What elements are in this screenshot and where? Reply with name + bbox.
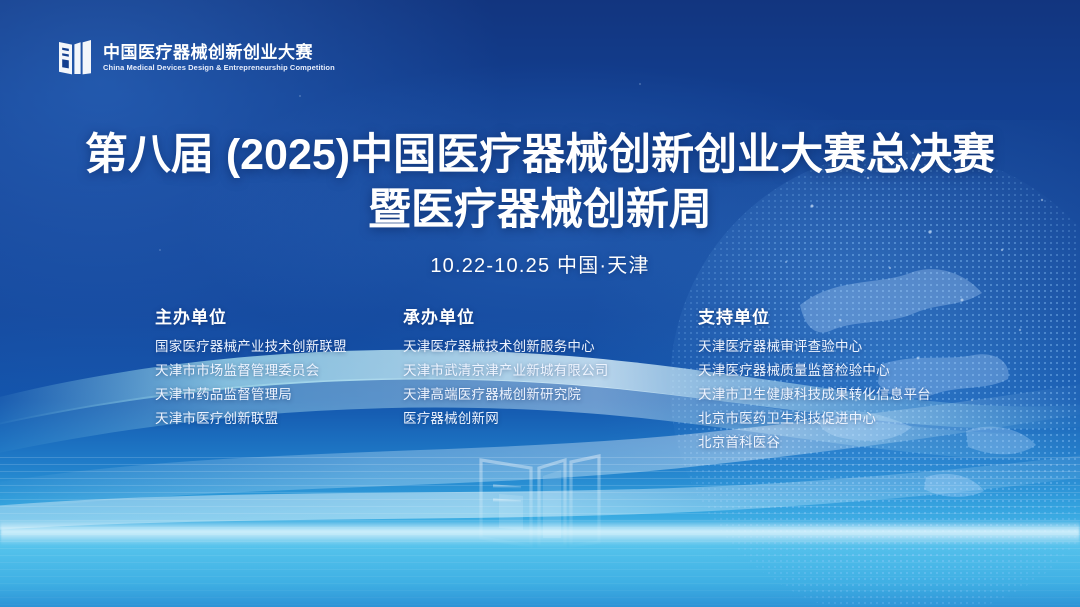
title-line-1: 第八届 (2025)中国医疗器械创新创业大赛总决赛 (0, 128, 1080, 183)
brand-text-block: 中国医疗器械创新创业大赛 China Medical Devices Desig… (103, 44, 335, 72)
organization-item: 天津医疗器械技术创新服务中心 (403, 335, 609, 359)
organization-item: 北京首科医谷 (698, 431, 931, 455)
organization-item: 天津市医疗创新联盟 (155, 407, 347, 431)
organization-item: 天津医疗器械质量监督检验中心 (698, 359, 931, 383)
organization-column-co-hosts: 承办单位 天津医疗器械技术创新服务中心 天津市武清京津产业新城有限公司 天津高端… (403, 303, 609, 431)
organization-item: 天津市市场监督管理委员会 (155, 359, 347, 383)
organization-heading: 支持单位 (698, 303, 931, 328)
organization-item: 医疗器械创新网 (403, 407, 609, 431)
brand-name-en: China Medical Devices Design & Entrepren… (103, 64, 335, 72)
poster-canvas: 中国医疗器械创新创业大赛 China Medical Devices Desig… (0, 0, 1080, 607)
organization-heading: 承办单位 (403, 303, 609, 328)
brand-name-cn: 中国医疗器械创新创业大赛 (103, 44, 335, 62)
organization-item: 天津市武清京津产业新城有限公司 (403, 359, 609, 383)
event-date-location: 10.22-10.25 中国·天津 (0, 249, 1080, 278)
organization-item: 天津医疗器械审评查验中心 (698, 335, 931, 359)
organization-item: 北京市医药卫生科技促进中心 (698, 407, 931, 431)
organization-columns: 主办单位 国家医疗器械产业技术创新联盟 天津市市场监督管理委员会 天津市药品监督… (0, 303, 1080, 453)
organization-item: 国家医疗器械产业技术创新联盟 (155, 335, 347, 359)
organization-item: 天津市卫生健康科技成果转化信息平台 (698, 383, 931, 407)
organization-column-supporters: 支持单位 天津医疗器械审评查验中心 天津医疗器械质量监督检验中心 天津市卫生健康… (698, 303, 931, 455)
organization-column-hosts: 主办单位 国家医疗器械产业技术创新联盟 天津市市场监督管理委员会 天津市药品监督… (155, 303, 347, 431)
brand-lockup: 中国医疗器械创新创业大赛 China Medical Devices Desig… (57, 38, 335, 78)
organization-item: 天津高端医疗器械创新研究院 (403, 383, 609, 407)
title-line-2: 暨医疗器械创新周 (0, 183, 1080, 238)
organization-item: 天津市药品监督管理局 (155, 383, 347, 407)
open-book-door-logo-icon (57, 38, 93, 78)
page-title: 第八届 (2025)中国医疗器械创新创业大赛总决赛 暨医疗器械创新周 (0, 128, 1080, 238)
organization-heading: 主办单位 (155, 303, 347, 328)
